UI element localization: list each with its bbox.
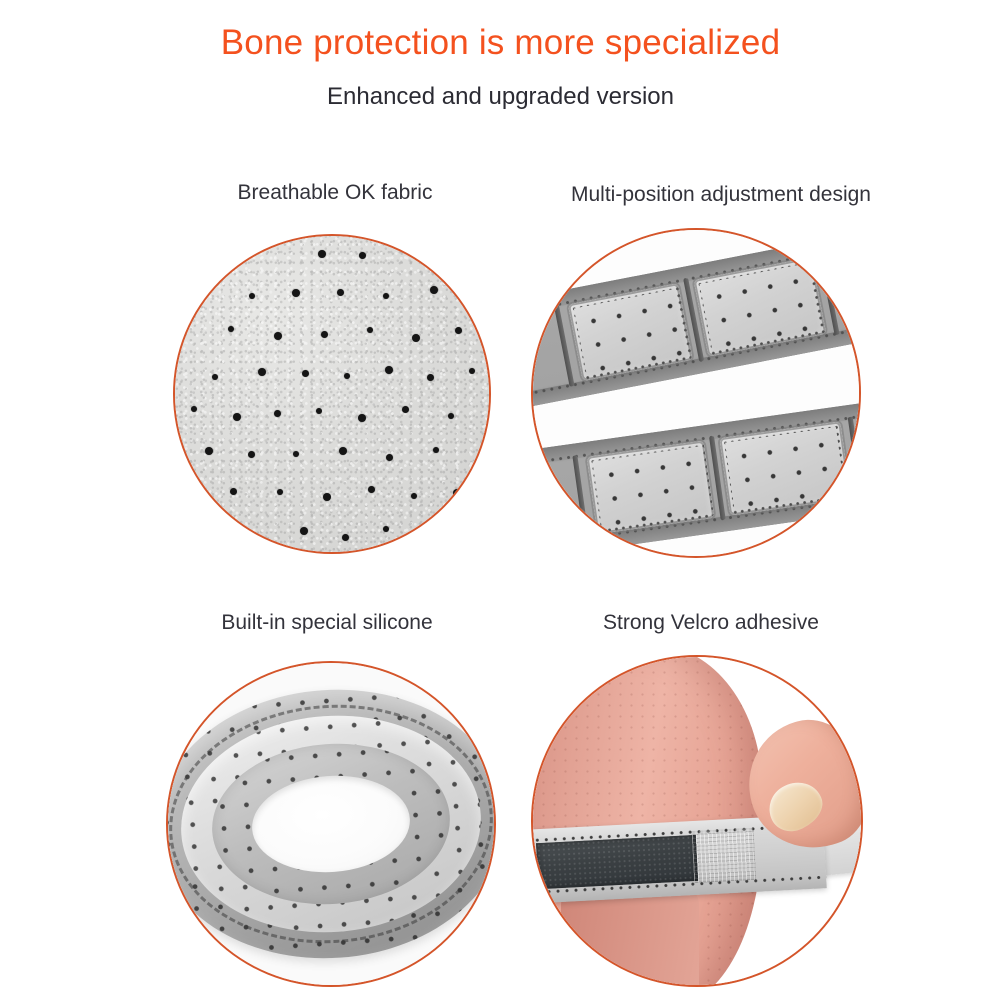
silicone-pad-image <box>168 663 494 985</box>
page-title: Bone protection is more specialized <box>0 22 1001 64</box>
page-subtitle: Enhanced and upgraded version <box>0 82 1001 112</box>
velcro-hook-patch <box>536 835 698 889</box>
strap-upper <box>533 230 859 415</box>
feature-label-breathable-ok-fabric: Breathable OK fabric <box>135 180 535 206</box>
velcro-loop-patch <box>692 828 757 883</box>
feature-label-strong-velcro-adhesive: Strong Velcro adhesive <box>511 610 911 636</box>
velcro-strap-image <box>533 657 861 985</box>
feature-photo-built-in-special-silicone <box>166 661 496 987</box>
feature-label-multi-position-adjustment-design: Multi-position adjustment design <box>521 182 921 208</box>
silicone-scene <box>168 663 494 985</box>
feature-photo-multi-position-adjustment <box>531 228 861 558</box>
strap-scene <box>533 230 859 556</box>
strap-lower <box>533 395 859 556</box>
perforated-fabric-image <box>175 236 489 552</box>
adjustment-straps-image <box>533 230 859 556</box>
velcro-scene <box>533 657 861 985</box>
feature-photo-strong-velcro-adhesive <box>531 655 863 987</box>
fingernail <box>761 774 830 839</box>
fabric-perforation-dots <box>175 236 489 552</box>
strap-pad <box>587 441 715 535</box>
infographic-page: Bone protection is more specialized Enha… <box>0 0 1001 1001</box>
feature-label-built-in-special-silicone: Built-in special silicone <box>127 610 527 636</box>
strap-slot <box>572 455 589 539</box>
feature-photo-breathable-ok-fabric <box>173 234 491 554</box>
